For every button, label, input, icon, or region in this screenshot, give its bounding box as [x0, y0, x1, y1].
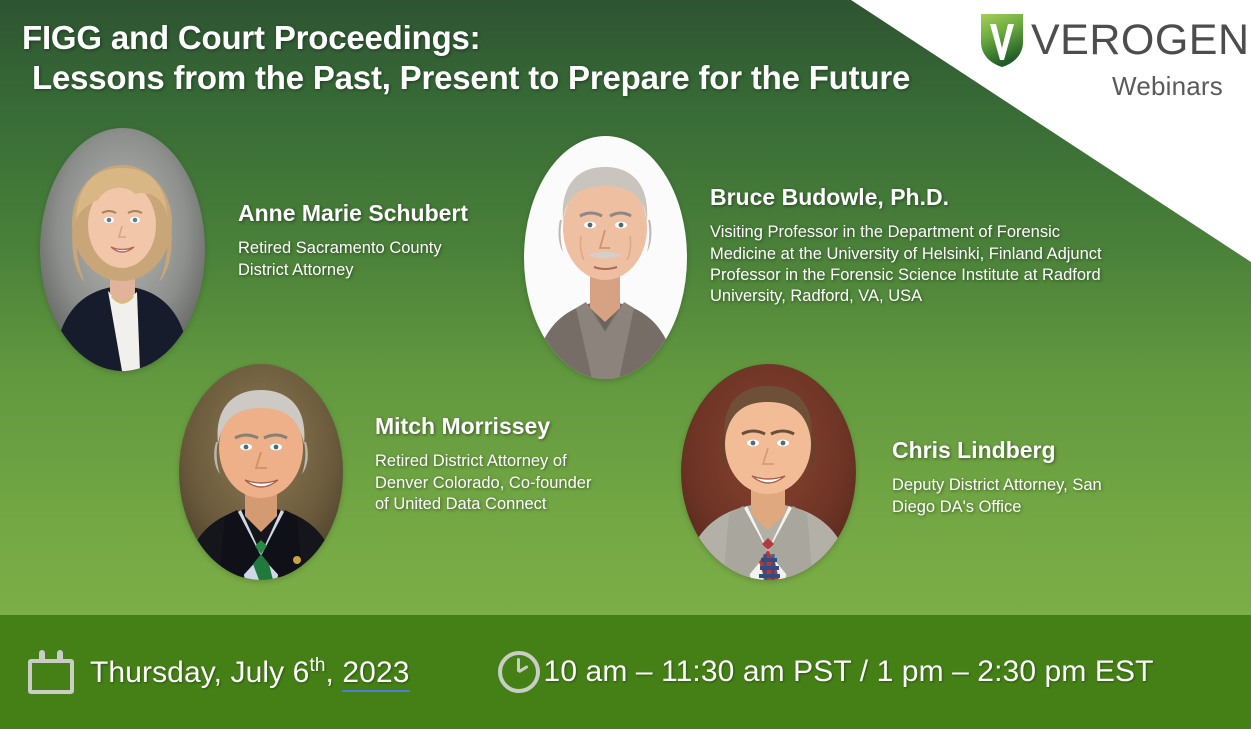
speaker-card-bruce-budowle: Bruce Budowle, Ph.D. Visiting Professor … [524, 136, 1105, 379]
page-title: FIGG and Court Proceedings: Lessons from… [22, 18, 910, 99]
chris-lindberg-portrait [681, 364, 856, 580]
calendar-icon [28, 650, 74, 694]
speaker-card-mitch-morrissey: Mitch Morrissey Retired District Attorne… [179, 364, 597, 580]
speaker-role: Retired Sacramento County District Attor… [238, 238, 478, 280]
speaker-role: Retired District Attorney of Denver Colo… [375, 451, 597, 514]
speaker-name: Anne Marie Schubert [238, 200, 478, 226]
webinar-date: Thursday, July 6th, 2023 [28, 650, 410, 694]
footer-bar: Thursday, July 6th, 2023 10 am – 11:30 a… [0, 615, 1251, 729]
webinar-slide: FIGG and Court Proceedings: Lessons from… [0, 0, 1251, 729]
speaker-card-anne-marie-schubert: Anne Marie Schubert Retired Sacramento C… [40, 128, 478, 371]
speaker-name: Mitch Morrissey [375, 413, 597, 439]
speaker-card-chris-lindberg: Chris Lindberg Deputy District Attorney,… [681, 364, 1117, 580]
date-separator: , [326, 656, 343, 689]
date-main: Thursday, July 6 [90, 656, 309, 689]
speaker-info: Bruce Budowle, Ph.D. Visiting Professor … [710, 184, 1105, 307]
speaker-info: Mitch Morrissey Retired District Attorne… [375, 413, 597, 515]
mitch-morrissey-portrait [179, 364, 343, 580]
bruce-budowle-portrait [524, 136, 687, 379]
time-text: 10 am – 11:30 am PST / 1 pm – 2:30 pm ES… [544, 655, 1154, 689]
speaker-role: Visiting Professor in the Department of … [710, 222, 1105, 306]
clock-icon [498, 651, 540, 693]
anne-marie-schubert-portrait [40, 128, 205, 371]
title-line-2: Lessons from the Past, Present to Prepar… [22, 58, 910, 98]
speaker-info: Anne Marie Schubert Retired Sacramento C… [238, 200, 478, 281]
title-line-1: FIGG and Court Proceedings: [22, 18, 910, 58]
webinar-time: 10 am – 11:30 am PST / 1 pm – 2:30 pm ES… [498, 651, 1154, 693]
speaker-info: Chris Lindberg Deputy District Attorney,… [892, 437, 1117, 518]
speaker-name: Chris Lindberg [892, 437, 1117, 463]
logo-wordmark: VEROGEN [1031, 19, 1250, 62]
speaker-role: Deputy District Attorney, San Diego DA's… [892, 475, 1117, 517]
speaker-name: Bruce Budowle, Ph.D. [710, 184, 1105, 210]
date-text: Thursday, July 6th, 2023 [90, 655, 410, 690]
date-ordinal-suffix: th [309, 655, 325, 676]
date-year: 2023 [342, 656, 409, 692]
logo-sublabel: Webinars [979, 71, 1225, 102]
verogen-shield-icon [979, 12, 1025, 69]
verogen-logo: VEROGEN Webinars [979, 12, 1225, 102]
